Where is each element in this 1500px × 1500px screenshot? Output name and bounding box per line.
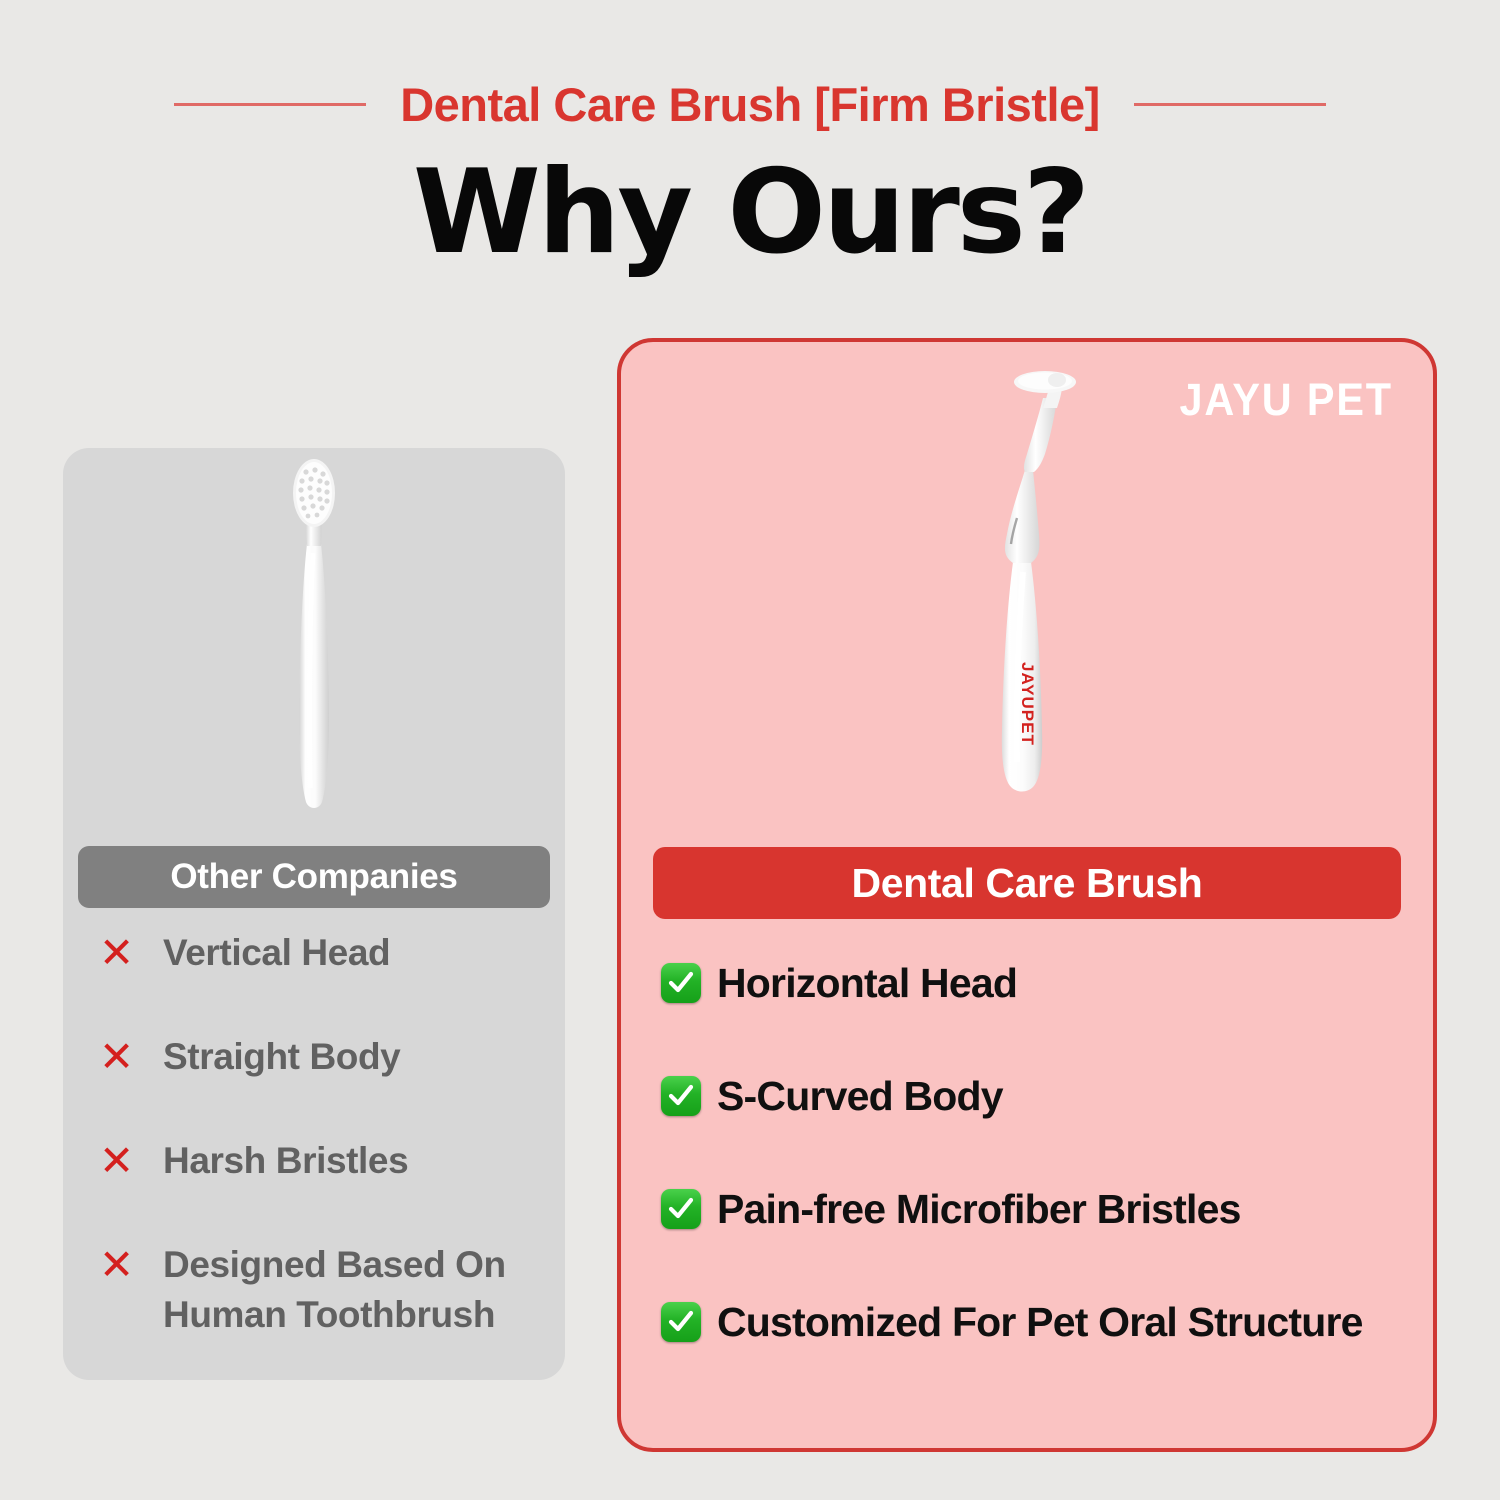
other-companies-list: ✕ Vertical Head ✕ Straight Body ✕ Harsh … [99,928,559,1392]
product-brush-image: JAYUPET [621,362,1433,822]
cross-icon: ✕ [99,928,151,978]
rule-left-icon [174,103,366,106]
list-item: S-Curved Body [661,1067,1411,1125]
competitor-brush-image [63,458,565,828]
list-item-label: Vertical Head [151,928,390,978]
dental-care-brush-list: Horizontal Head S-Curved Body Pain-free … [661,954,1411,1406]
list-item: Horizontal Head [661,954,1411,1012]
dental-care-brush-label: Dental Care Brush [852,860,1203,907]
cross-icon: ✕ [99,1032,151,1082]
handle-imprint: JAYUPET [1018,662,1037,746]
page-title: Why Ours? [0,152,1500,274]
list-item: ✕ Straight Body [99,1032,559,1084]
cross-icon: ✕ [99,1136,151,1186]
check-icon [661,1189,701,1229]
dental-care-brush-badge: Dental Care Brush [653,847,1401,919]
list-item: Pain-free Microfiber Bristles [661,1180,1411,1238]
check-icon [661,1302,701,1342]
check-icon [661,963,701,1003]
check-icon [661,1076,701,1116]
other-companies-badge: Other Companies [78,846,550,908]
list-item: ✕ Designed Based On Human Toothbrush [99,1240,559,1340]
list-item-label: Horizontal Head [701,960,1017,1007]
cross-icon: ✕ [99,1240,151,1290]
list-item-label: S-Curved Body [701,1073,1003,1120]
page-header: Dental Care Brush [Firm Bristle] Why Our… [0,0,1500,300]
list-item-label: Harsh Bristles [151,1136,408,1186]
list-item: Customized For Pet Oral Structure [661,1293,1411,1351]
list-item: ✕ Harsh Bristles [99,1136,559,1188]
list-item-label: Straight Body [151,1032,400,1082]
dental-care-brush-panel: JAYU PET [617,338,1437,1452]
list-item-label: Customized For Pet Oral Structure [701,1299,1363,1346]
other-companies-panel: Other Companies ✕ Vertical Head ✕ Straig… [63,448,565,1380]
subtitle-row: Dental Care Brush [Firm Bristle] [0,68,1500,140]
other-companies-label: Other Companies [170,857,457,897]
list-item: ✕ Vertical Head [99,928,559,980]
list-item-label: Pain-free Microfiber Bristles [701,1186,1241,1233]
list-item-label: Designed Based On Human Toothbrush [151,1240,506,1340]
page-subtitle: Dental Care Brush [Firm Bristle] [400,77,1100,132]
rule-right-icon [1134,103,1326,106]
